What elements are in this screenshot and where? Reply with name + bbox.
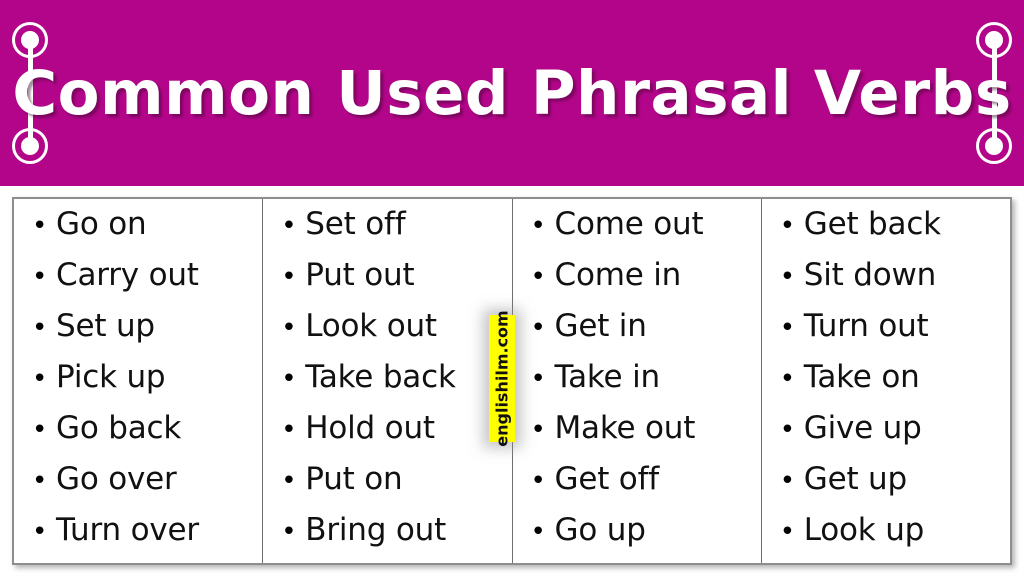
- bullet-icon: •: [281, 366, 305, 392]
- bullet-icon: •: [32, 468, 56, 494]
- bullet-icon: •: [780, 366, 804, 392]
- list-item: • Get up: [762, 464, 1010, 515]
- list-item: • Give up: [762, 413, 1010, 464]
- verb-label: Sit down: [804, 260, 936, 291]
- verb-label: Turn out: [804, 311, 929, 342]
- list-item: • Take on: [762, 362, 1010, 413]
- verb-label: Set up: [56, 311, 155, 342]
- bullet-icon: •: [531, 264, 555, 290]
- verb-label: Take back: [305, 362, 455, 393]
- verb-label: Put out: [305, 260, 414, 291]
- list-item: • Sit down: [762, 260, 1010, 311]
- bullet-icon: •: [780, 213, 804, 239]
- list-item: • Go up: [513, 515, 761, 566]
- verb-label: Get off: [555, 464, 660, 495]
- verb-label: Go up: [555, 515, 646, 546]
- verb-label: Go over: [56, 464, 177, 495]
- list-item: • Set off: [263, 209, 511, 260]
- verb-label: Look up: [804, 515, 924, 546]
- bullet-icon: •: [531, 213, 555, 239]
- bullet-icon: •: [281, 315, 305, 341]
- verb-label: Give up: [804, 413, 922, 444]
- bullet-icon: •: [531, 468, 555, 494]
- bullet-icon: •: [780, 417, 804, 443]
- verb-label: Pick up: [56, 362, 165, 393]
- verb-label: Go on: [56, 209, 146, 240]
- bullet-icon: •: [32, 417, 56, 443]
- bullet-icon: •: [780, 264, 804, 290]
- list-item: • Go on: [14, 209, 262, 260]
- bullet-icon: •: [281, 417, 305, 443]
- list-item: • Go over: [14, 464, 262, 515]
- verb-column-1: • Go on • Carry out • Set up • Pick up •: [14, 199, 263, 563]
- verb-label: Get in: [555, 311, 647, 342]
- page-title: Common Used Phrasal Verbs: [0, 0, 1024, 186]
- watermark-label: englishilm.com: [493, 310, 512, 446]
- bullet-icon: •: [32, 264, 56, 290]
- list-item: • Turn out: [762, 311, 1010, 362]
- list-item: • Put on: [263, 464, 511, 515]
- bullet-icon: •: [281, 519, 305, 545]
- bullet-icon: •: [32, 213, 56, 239]
- list-item: • Get back: [762, 209, 1010, 260]
- verb-column-3: • Come out • Come in • Get in • Take in …: [513, 199, 762, 563]
- list-item: • Bring out: [263, 515, 511, 566]
- verb-label: Take in: [555, 362, 660, 393]
- list-item: • Turn over: [14, 515, 262, 566]
- verb-label: Take on: [804, 362, 920, 393]
- verb-label: Set off: [305, 209, 405, 240]
- phrasal-verbs-poster: Common Used Phrasal Verbs • Go on • Carr…: [0, 0, 1024, 576]
- verb-label: Look out: [305, 311, 437, 342]
- bullet-icon: •: [780, 315, 804, 341]
- list-item: • Pick up: [14, 362, 262, 413]
- list-item: • Get off: [513, 464, 761, 515]
- bullet-icon: •: [780, 519, 804, 545]
- list-item: • Come out: [513, 209, 761, 260]
- verb-column-2: • Set off • Put out • Look out • Take ba…: [263, 199, 512, 563]
- list-item: • Go back: [14, 413, 262, 464]
- header-banner: Common Used Phrasal Verbs: [0, 0, 1024, 186]
- list-item: • Hold out: [263, 413, 511, 464]
- verb-label: Turn over: [56, 515, 199, 546]
- verb-label: Carry out: [56, 260, 199, 291]
- bullet-icon: •: [531, 417, 555, 443]
- list-item: • Take back: [263, 362, 511, 413]
- bullet-icon: •: [281, 213, 305, 239]
- verb-label: Make out: [555, 413, 696, 444]
- site-watermark: englishilm.com: [489, 315, 515, 442]
- verb-label: Get up: [804, 464, 907, 495]
- verb-column-4: • Get back • Sit down • Turn out • Take …: [762, 199, 1010, 563]
- bullet-icon: •: [32, 519, 56, 545]
- list-item: • Set up: [14, 311, 262, 362]
- list-item: • Get in: [513, 311, 761, 362]
- list-item: • Put out: [263, 260, 511, 311]
- verb-label: Come out: [555, 209, 704, 240]
- verb-label: Get back: [804, 209, 941, 240]
- list-item: • Come in: [513, 260, 761, 311]
- list-item: • Look up: [762, 515, 1010, 566]
- list-item: • Take in: [513, 362, 761, 413]
- bullet-icon: •: [281, 264, 305, 290]
- bullet-icon: •: [531, 315, 555, 341]
- bullet-icon: •: [32, 366, 56, 392]
- bullet-icon: •: [531, 366, 555, 392]
- verb-label: Hold out: [305, 413, 435, 444]
- bullet-icon: •: [780, 468, 804, 494]
- verb-label: Come in: [555, 260, 682, 291]
- list-item: • Look out: [263, 311, 511, 362]
- list-item: • Carry out: [14, 260, 262, 311]
- verb-label: Bring out: [305, 515, 446, 546]
- list-item: • Make out: [513, 413, 761, 464]
- bullet-icon: •: [32, 315, 56, 341]
- bullet-icon: •: [531, 519, 555, 545]
- verb-label: Put on: [305, 464, 402, 495]
- verb-label: Go back: [56, 413, 181, 444]
- bullet-icon: •: [281, 468, 305, 494]
